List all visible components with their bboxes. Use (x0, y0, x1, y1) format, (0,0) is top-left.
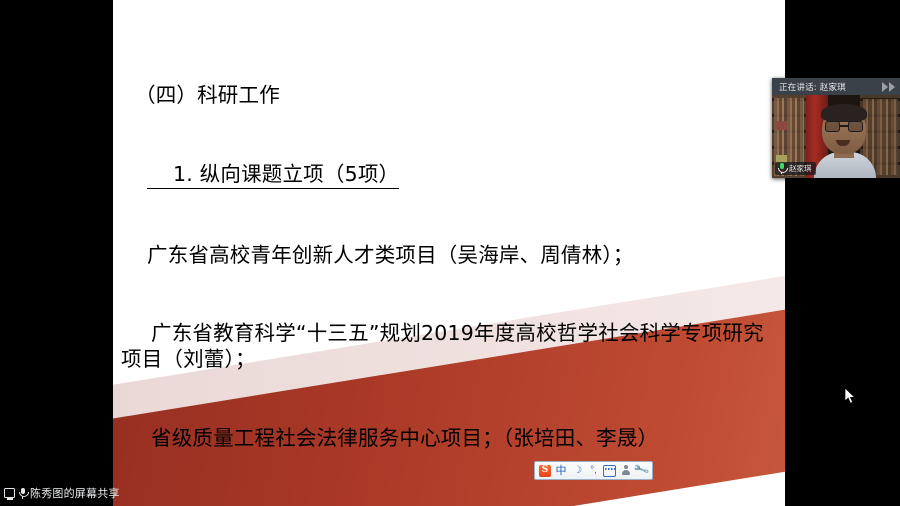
slide-line: （四）科研工作 (121, 82, 781, 108)
user-icon[interactable] (619, 463, 632, 478)
soft-keyboard-icon[interactable] (603, 463, 616, 478)
slide-line: 省级质量工程社会法律服务中心项目；（张培田、李晟） (121, 425, 781, 451)
participant-video-feed: 赵家琪 (772, 95, 900, 178)
screen-share-label: 陈秀图的屏幕共享 (30, 485, 120, 501)
speaking-chevrons-icon (882, 82, 895, 92)
sogou-logo-icon[interactable]: S (539, 465, 551, 477)
mouse-cursor (845, 388, 856, 404)
slide-line: 1. 纵向课题立项（5项） (121, 161, 781, 189)
bookshelf-item (775, 121, 787, 130)
screen-share-banner: 陈秀图的屏幕共享 (4, 485, 120, 501)
powerpoint-slide: （四）科研工作 1. 纵向课题立项（5项） 广东省高校青年创新人才类项目（吴海岸… (113, 0, 785, 506)
participant-name-tag: 赵家琪 (775, 162, 816, 175)
sogou-ime-toolbar[interactable]: S 中 ☽ °, 🔧 (534, 461, 653, 480)
participant-hair (821, 104, 867, 122)
microphone-icon (18, 488, 27, 499)
ime-language-mode-button[interactable]: 中 (554, 463, 568, 478)
ime-punctuation-icon[interactable]: ☽ (571, 463, 584, 478)
slide-line: 广东省高校青年创新人才类项目（吴海岸、周倩林）； (121, 242, 781, 268)
video-panel-header: 正在讲话: 赵家琪 (772, 78, 900, 95)
active-speaker-video-panel[interactable]: 正在讲话: 赵家琪 赵家琪 (772, 78, 900, 178)
ime-full-half-width-icon[interactable]: °, (587, 463, 600, 478)
slide-body-text: （四）科研工作 1. 纵向课题立项（5项） 广东省高校青年创新人才类项目（吴海岸… (113, 30, 785, 506)
slide-line: 广东省教育科学“十三五”规划2019年度高校哲学社会科学专项研究项目（刘蕾）； (121, 320, 781, 372)
zoom-shared-screen: （四）科研工作 1. 纵向课题立项（5项） 广东省高校青年创新人才类项目（吴海岸… (0, 0, 900, 506)
active-speaker-label: 正在讲话: 赵家琪 (779, 81, 846, 93)
eyeglasses-icon (825, 121, 863, 132)
participant-name: 赵家琪 (789, 163, 812, 174)
slide-line-underlined: 1. 纵向课题立项（5项） (147, 161, 399, 189)
screen-share-icon (4, 488, 15, 498)
microphone-icon (777, 163, 786, 174)
wrench-icon[interactable]: 🔧 (635, 463, 648, 478)
